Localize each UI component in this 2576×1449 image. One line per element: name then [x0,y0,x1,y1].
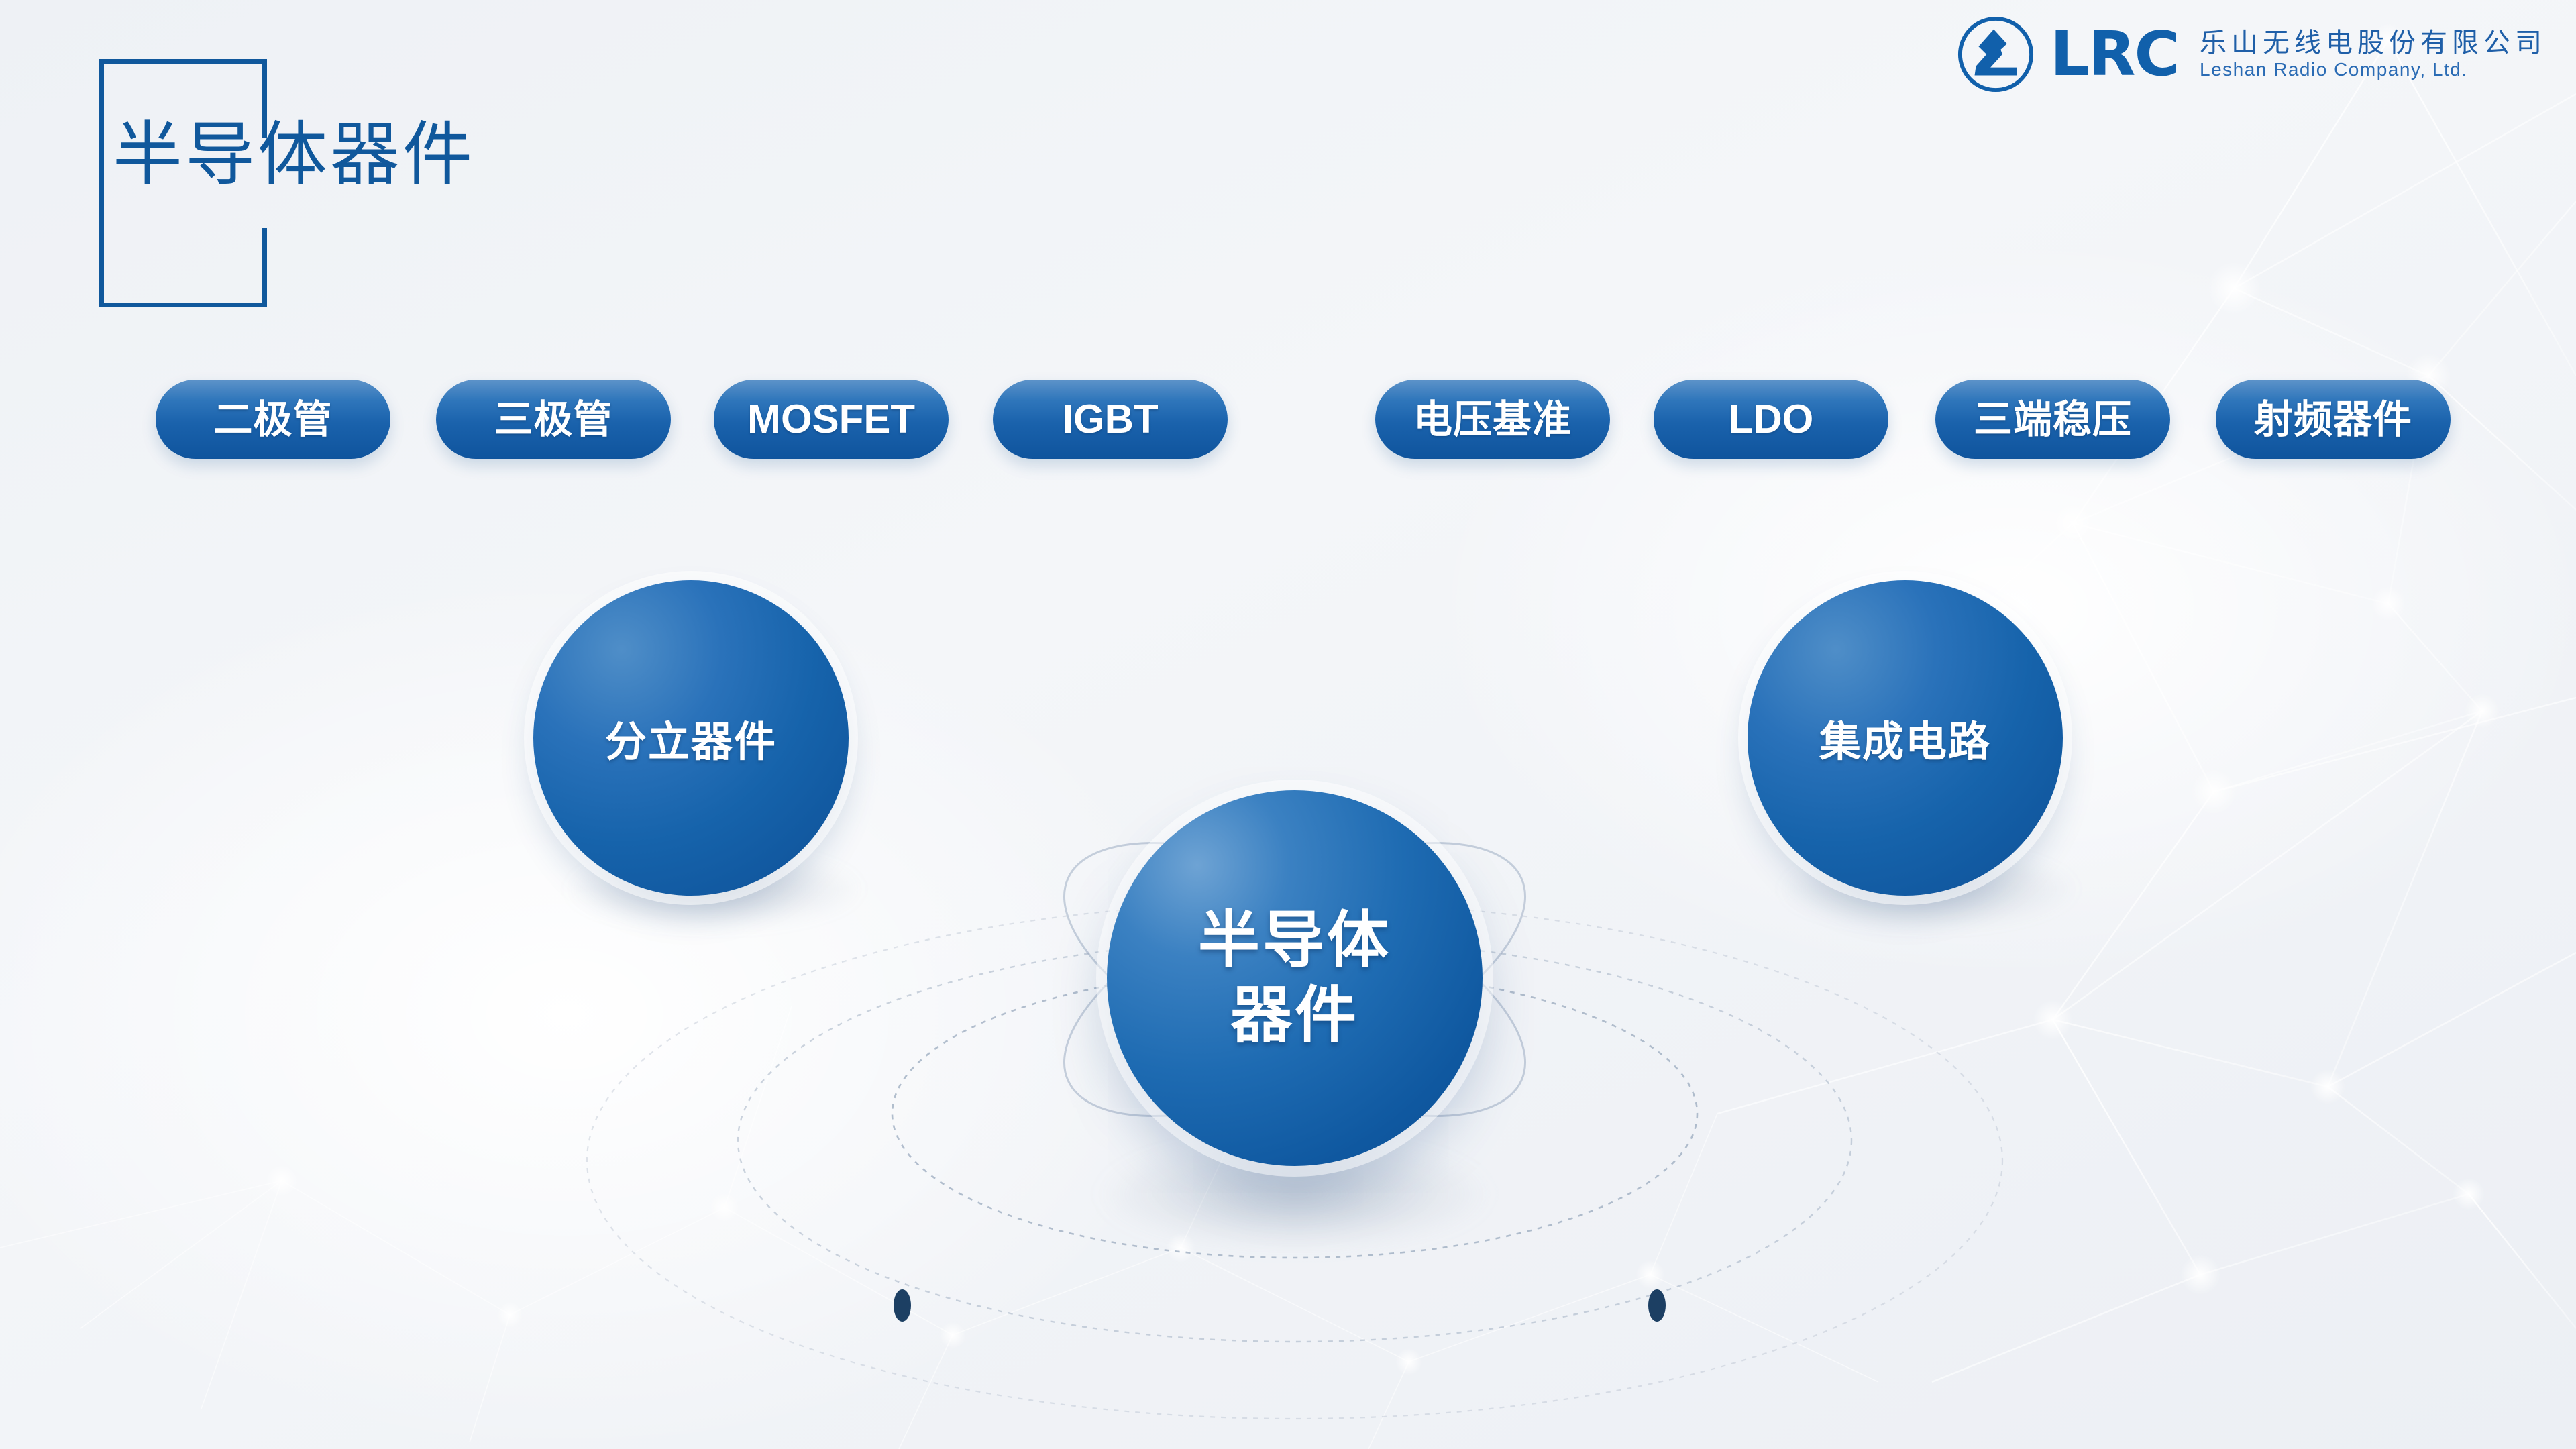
pill-label: 三端稳压 [1974,400,2132,439]
pill-label: 三极管 [494,400,612,439]
pill-three-terminal-regulator[interactable]: 三端稳压 [1935,380,2170,459]
core-node-semiconductor-devices[interactable]: 半导体 器件 [1107,790,1483,1166]
branch-label: 集成电路 [1819,708,1991,768]
logo-company-en: Leshan Radio Company, Ltd. [2200,60,2546,79]
slide-canvas: 半导体器件 LRC 乐山无线电股份有限公司 Leshan Radio Compa… [0,0,2576,1449]
orbit-dot [894,1289,1666,1322]
lrc-circle-emblem-icon [1956,15,2035,94]
pill-ldo[interactable]: LDO [1654,380,1888,459]
core-label-line1: 半导体 [1198,903,1391,978]
pill-label: LDO [1729,399,1814,439]
pill-diode[interactable]: 二极管 [156,380,390,459]
pill-igbt[interactable]: IGBT [993,380,1228,459]
logo-wordmark: LRC [2050,23,2178,85]
pill-mosfet[interactable]: MOSFET [714,380,949,459]
pill-label: 二极管 [213,400,332,439]
pill-rf-device[interactable]: 射频器件 [2216,380,2451,459]
branch-node-discrete-devices[interactable]: 分立器件 [533,580,849,896]
pill-label: 电压基准 [1413,400,1572,439]
pill-voltage-reference[interactable]: 电压基准 [1375,380,1610,459]
pill-label: IGBT [1062,399,1158,439]
pill-label: MOSFET [747,399,915,439]
page-title: 半导体器件 [113,119,475,189]
pill-transistor[interactable]: 三极管 [436,380,671,459]
company-logo: LRC 乐山无线电股份有限公司 Leshan Radio Company, Lt… [1956,15,2546,94]
branch-node-integrated-circuits[interactable]: 集成电路 [1748,580,2063,896]
logo-company-cn: 乐山无线电股份有限公司 [2200,30,2546,56]
branch-label: 分立器件 [605,708,777,768]
pill-label: 射频器件 [2254,400,2412,439]
core-label-line2: 器件 [1230,978,1359,1053]
